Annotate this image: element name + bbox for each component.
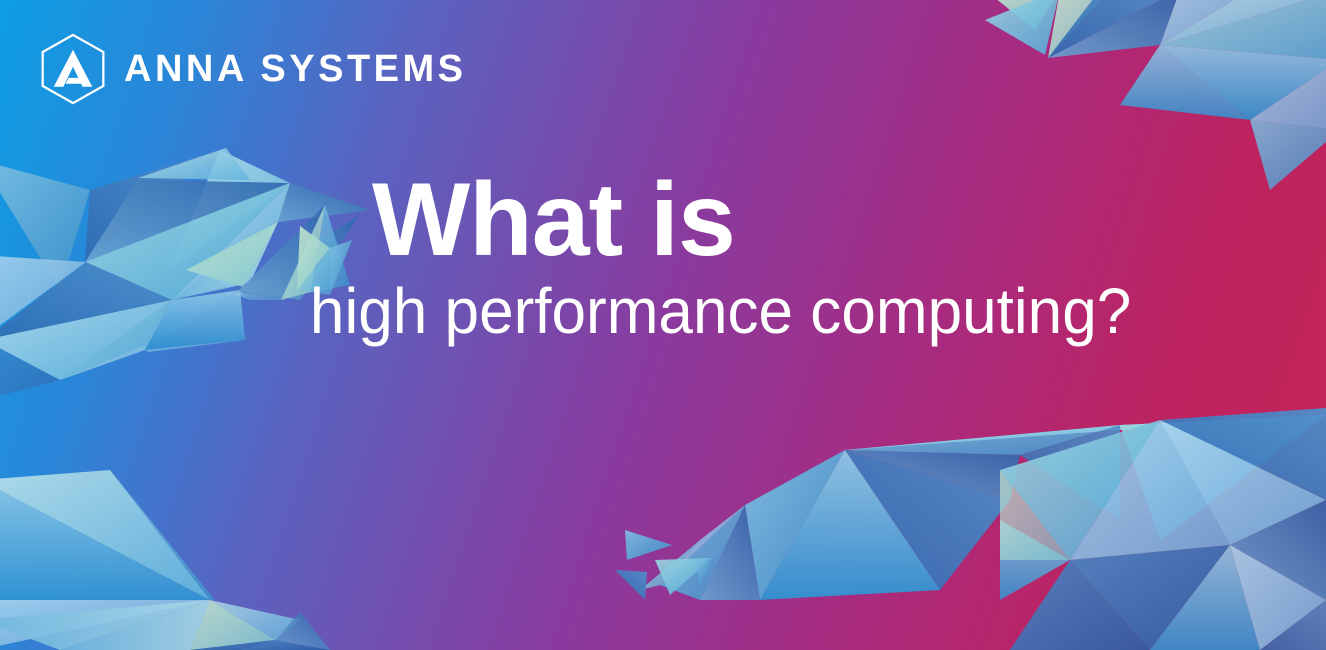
hero-banner: ANNA SYSTEMS What is high performance co… (0, 0, 1326, 650)
poly-cluster-top-right (985, 0, 1326, 190)
brand-logo[interactable]: ANNA SYSTEMS (36, 32, 467, 106)
brand-wordmark: ANNA SYSTEMS (124, 50, 467, 88)
headline-block: What is high performance computing? (0, 168, 1326, 345)
headline-line-2: high performance computing? (37, 278, 1236, 345)
anna-hexagon-a-logo-icon (36, 32, 110, 106)
headline-line-1: What is (0, 168, 1236, 272)
poly-cluster-bottom-left (0, 470, 330, 650)
